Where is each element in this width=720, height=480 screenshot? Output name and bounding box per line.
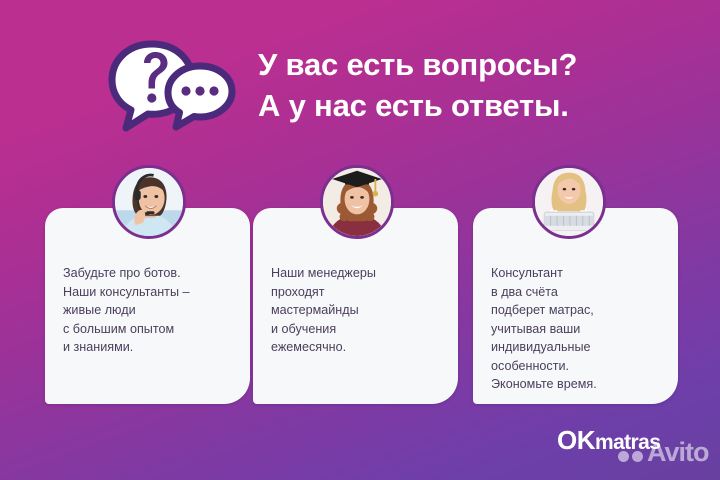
avito-watermark-text: Avito [647, 437, 709, 468]
banner-header: У вас есть вопросы? А у нас есть ответы. [0, 28, 720, 138]
headline-line-2: А у нас есть ответы. [258, 85, 708, 126]
benefit-cards: Забудьте про ботов. Наши консультанты – … [0, 165, 720, 425]
benefit-card-text: Наши менеджеры проходят мастермайнды и о… [271, 264, 446, 357]
avito-watermark: Avito [618, 438, 709, 469]
promo-banner: У вас есть вопросы? А у нас есть ответы.… [0, 0, 720, 480]
avatar-call-center-operator [112, 165, 186, 239]
avatar-consultant-with-mattress [532, 165, 606, 239]
logo-ok-text: OK [557, 425, 595, 455]
avatar-graduate-manager [320, 165, 394, 239]
benefit-card-text: Забудьте про ботов. Наши консультанты – … [63, 264, 238, 357]
avito-dots-icon [618, 442, 644, 466]
headline-line-1: У вас есть вопросы? [258, 44, 708, 85]
banner-headline: У вас есть вопросы? А у нас есть ответы. [258, 44, 708, 126]
benefit-card-text: Консультант в два счёта подберет матрас,… [491, 264, 666, 394]
question-chat-bubbles-icon [104, 40, 236, 132]
